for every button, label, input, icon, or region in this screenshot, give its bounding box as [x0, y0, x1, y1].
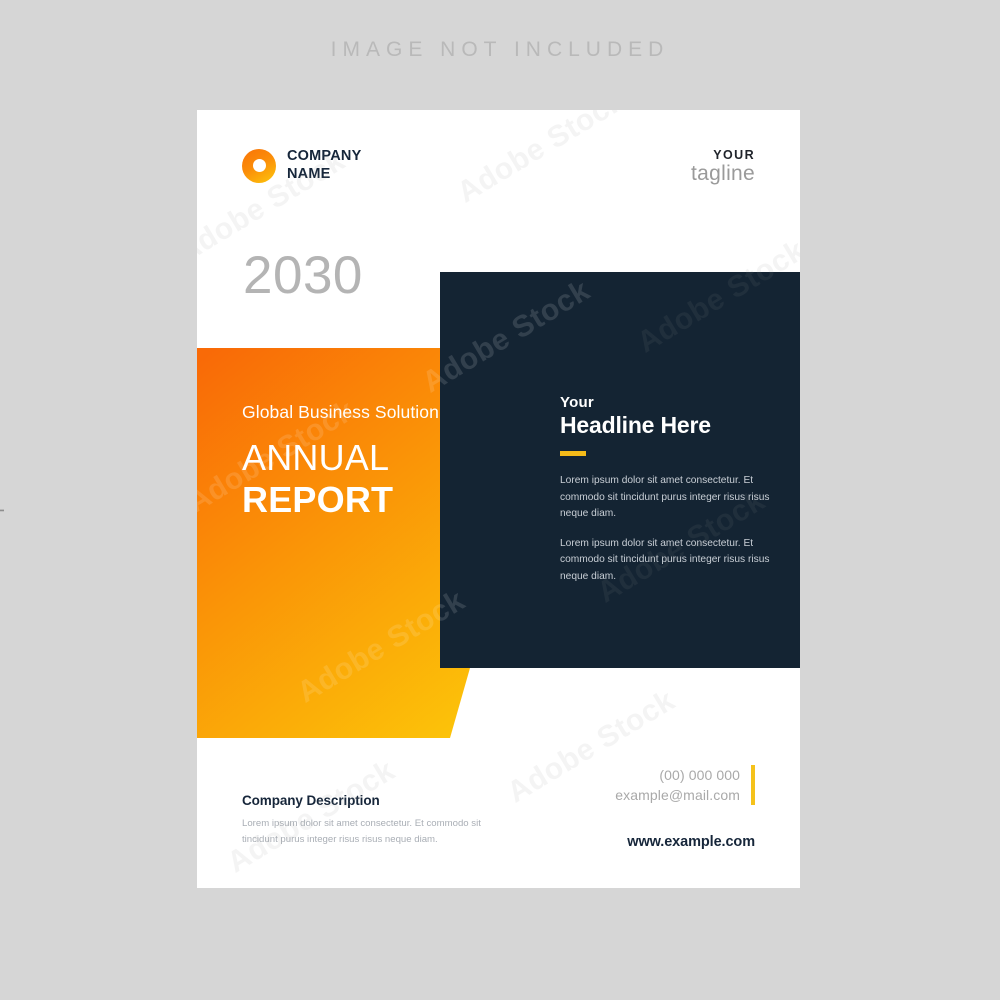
company-name-line1: COMPANY: [287, 148, 361, 164]
accent-rule: [560, 451, 586, 456]
company-description-title: Company Description: [242, 793, 497, 808]
headline-title: Headline Here: [560, 412, 775, 439]
body-paragraph-1: Lorem ipsum dolor sit amet consectetur. …: [560, 473, 775, 523]
contact-phone[interactable]: (00) 000 000: [615, 765, 740, 785]
tagline-line2: tagline: [691, 162, 755, 186]
report-title-line2: REPORT: [242, 479, 522, 521]
dark-panel-body: Lorem ipsum dolor sit amet consectetur. …: [560, 473, 775, 585]
stock-id-watermark: Adobe Stock | #663190940: [0, 379, 6, 644]
headline-kicker: Your: [560, 394, 775, 411]
contact-block: (00) 000 000 example@mail.com www.exampl…: [615, 765, 755, 850]
company-logo[interactable]: COMPANY NAME: [242, 148, 361, 183]
poster-page: Your Headline Here Lorem ipsum dolor sit…: [197, 110, 800, 888]
contact-accent-bar: [751, 765, 755, 805]
report-title-line1: ANNUAL: [242, 437, 522, 479]
company-description-block: Company Description Lorem ipsum dolor si…: [242, 793, 497, 847]
company-name-line2: NAME: [287, 166, 331, 182]
tagline-block: YOUR tagline: [691, 148, 755, 187]
website-link[interactable]: www.example.com: [615, 834, 755, 850]
company-description-body: Lorem ipsum dolor sit amet consectetur. …: [242, 816, 497, 847]
orange-panel-text: Global Business Solution ANNUAL REPORT: [242, 402, 522, 522]
ring-logo-icon: [242, 149, 276, 183]
dark-panel-text: Your Headline Here Lorem ipsum dolor sit…: [560, 394, 775, 585]
year-label: 2030: [243, 245, 363, 306]
company-name-label: COMPANY NAME: [287, 148, 361, 183]
watermark-tile: Adobe Stock: [452, 110, 631, 210]
screenshot-canvas: IMAGE NOT INCLUDED Adobe Stock | #663190…: [0, 0, 1000, 1000]
contact-details: (00) 000 000 example@mail.com: [615, 765, 755, 806]
tagline-line1: YOUR: [691, 148, 755, 162]
report-kicker: Global Business Solution: [242, 402, 522, 423]
contact-email[interactable]: example@mail.com: [615, 785, 740, 805]
image-not-included-notice: IMAGE NOT INCLUDED: [0, 38, 1000, 62]
body-paragraph-2: Lorem ipsum dolor sit amet consectetur. …: [560, 536, 775, 586]
